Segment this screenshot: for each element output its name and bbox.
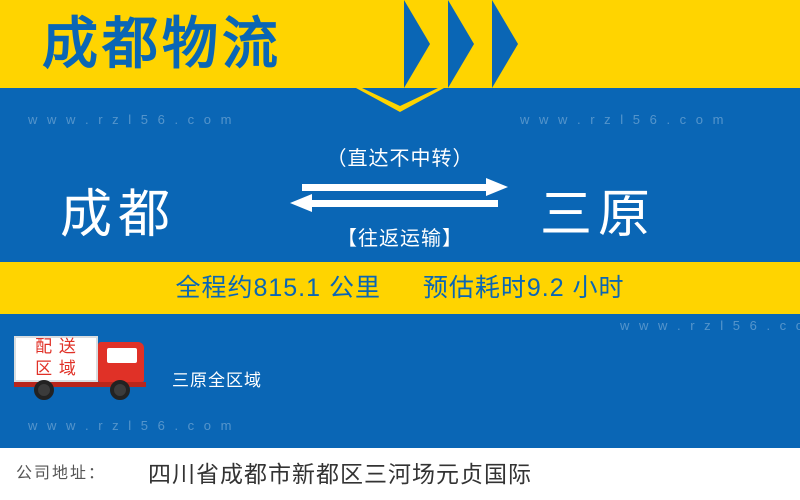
truck-window <box>107 348 137 363</box>
page-title: 成都物流 <box>42 8 282 80</box>
destination-city: 三原 <box>540 172 656 247</box>
logistics-banner: 成都物流 w w w . r z l 5 6 . c o m w w w . r… <box>0 0 800 500</box>
truck-badge-line2: 区 域 <box>14 358 98 380</box>
delivery-area-text: 三原全区域 <box>172 366 262 391</box>
truck-wheel <box>110 380 130 400</box>
chevron-right-icon <box>492 0 518 88</box>
delivery-truck-icon: 配 送 区 域 <box>14 334 160 398</box>
watermark: w w w . r z l 5 6 . c o m <box>620 318 800 333</box>
duration-text: 预估耗时9.2 小时 <box>423 274 625 302</box>
watermark: w w w . r z l 5 6 . c o m <box>520 112 726 127</box>
watermark: w w w . r z l 5 6 . c o m <box>28 418 234 433</box>
chevron-right-icon <box>404 0 430 88</box>
bidirectional-arrow-icon <box>288 182 512 218</box>
company-address-label: 公司地址： <box>16 448 106 500</box>
truck-badge-line1: 配 送 <box>14 336 98 358</box>
origin-city: 成都 <box>60 172 176 247</box>
distance-text: 全程约815.1 公里 <box>175 274 381 302</box>
direct-shipping-label: （直达不中转） <box>292 142 508 171</box>
trip-info: 全程约815.1 公里 预估耗时9.2 小时 <box>0 262 800 314</box>
roundtrip-label: 【往返运输】 <box>292 222 508 251</box>
watermark: w w w . r z l 5 6 . c o m <box>28 112 234 127</box>
chevron-right-icon <box>448 0 474 88</box>
truck-badge-text: 配 送 区 域 <box>14 336 98 382</box>
truck-wheel <box>34 380 54 400</box>
company-address-value: 四川省成都市新都区三河场元贞国际 <box>148 448 532 500</box>
